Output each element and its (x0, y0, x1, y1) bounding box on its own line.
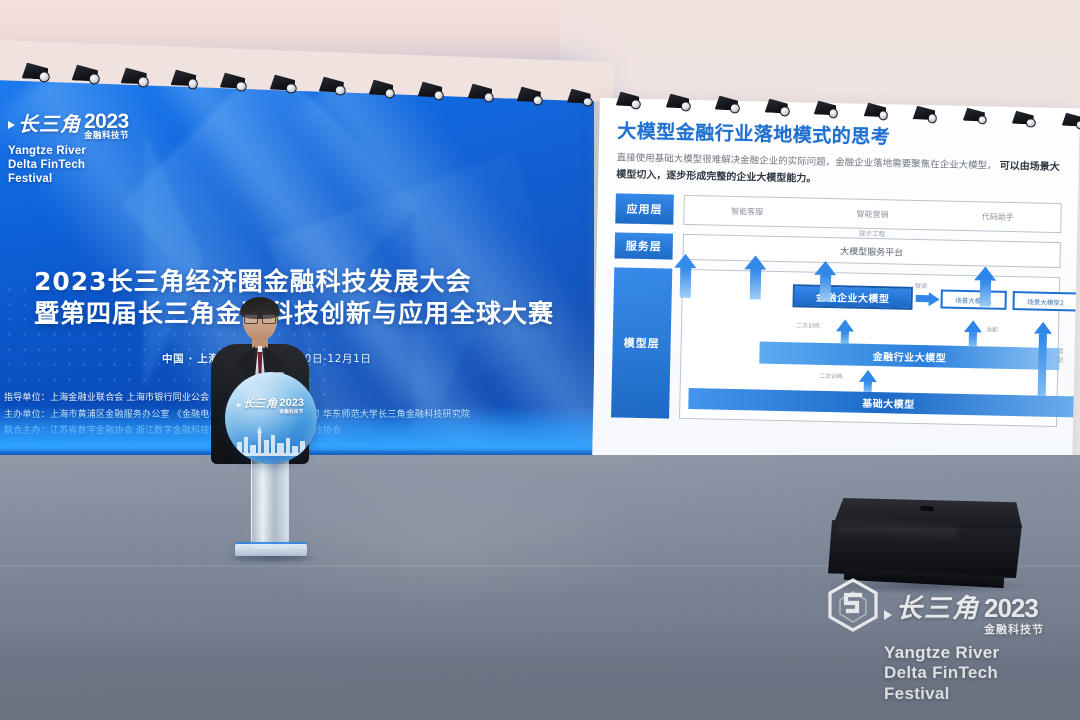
event-logo-year: 2023 (84, 112, 129, 131)
podium-logo-panel: 长三角 2023 金融科技节 (225, 372, 317, 464)
stage-spotlight (963, 108, 985, 122)
stage-spotlight (665, 93, 689, 108)
event-logo-en-line2: Delta FinTech (8, 158, 188, 172)
edge-label-retrain: 二次训练 (819, 371, 843, 381)
stage-spotlight (765, 98, 788, 113)
flow-arrow-base-to-scene2 (1034, 322, 1052, 334)
speaker-podium: 长三角 2023 金融科技节 (225, 372, 317, 572)
model-box-scene-2: 场景大模型2 (1012, 291, 1078, 311)
presentation-slide: 大模型金融行业落地模式的思考 直接使用基础大模型很难解决金融企业的实际问题，金融… (592, 98, 1080, 474)
model-box-base: 基础大模型 (688, 388, 1080, 418)
edge-label-adapt: 适配 (1057, 346, 1063, 364)
stage-spotlight (418, 82, 443, 98)
app-cell-2: 代码助手 (935, 210, 1061, 224)
stage-spotlight (864, 103, 887, 118)
arrow-icon (237, 403, 241, 407)
podium-base (235, 544, 307, 556)
stage-spotlight (1012, 110, 1034, 124)
stage-spotlight (368, 79, 393, 95)
event-logo-en-line1: Yangtze River (8, 144, 188, 158)
podium-logo-cn: 长三角 (243, 398, 278, 409)
service-platform-label: 大模型服务平台 (840, 244, 903, 258)
stage-spotlight (220, 72, 246, 89)
slide-title: 大模型金融行业落地模式的思考 (617, 116, 1065, 153)
flow-arrow-stem (864, 382, 872, 392)
flow-arrow-stem (841, 331, 849, 343)
flow-arrow-model-to-service (814, 261, 837, 301)
stage-spotlight (170, 70, 196, 87)
stage-spotlight (319, 77, 344, 93)
event-logo-cn: 长三角 (18, 114, 81, 134)
stage-spotlight (517, 86, 541, 102)
flow-arrow-industry-to-enterprise (836, 319, 854, 331)
service-layer-note: 提示工程 (859, 228, 885, 239)
podium-stem (251, 458, 289, 548)
stage-spotlight (616, 91, 640, 106)
city-skyline-icon (233, 426, 309, 456)
stage-spotlight (269, 74, 295, 90)
flow-arrow-industry-to-scene1 (964, 320, 982, 332)
edge-label-finetune: 微调 (915, 281, 927, 290)
glasses-icon (244, 314, 276, 322)
layer-tag-model: 模型层 (611, 267, 672, 418)
slide-subtitle-line1: 直接使用基础大模型很难解决金融企业的实际问题，金融企业落地需要聚焦在企业大模型， (617, 152, 997, 171)
model-layer-box: 金融企业大模型 金融行业大模型 基础大模型 场景大模型1 场景大模型2 微调 二… (679, 269, 1060, 427)
app-cell-0: 智能客服 (684, 204, 810, 218)
edge-label-adapt: 适配 (986, 324, 998, 333)
conference-stage-photo: 长三角 2023 金融科技节 Yangtze River Delta FinTe… (0, 0, 1080, 720)
flow-arrow-model-to-service (674, 254, 697, 298)
flow-arrow-model-to-service (974, 266, 997, 306)
event-logo-led: 长三角 2023 金融科技节 Yangtze River Delta FinTe… (8, 112, 188, 186)
event-logo-festival-cn: 金融科技节 (84, 131, 129, 140)
stage-spotlight (1062, 113, 1080, 127)
app-cell-1: 智能营销 (810, 207, 936, 221)
podium-logo-year: 2023 (280, 398, 304, 409)
flow-arrow-enterprise-to-scene (929, 292, 940, 306)
stage-spotlight (913, 105, 936, 120)
monitor-handle (920, 506, 934, 512)
stage-spotlight (22, 62, 49, 79)
stage-spotlight (715, 96, 738, 111)
stage-spotlight (467, 84, 492, 100)
diagram-row-application: 应用层 智能客服 智能营销 代码助手 (615, 193, 1062, 233)
model-box-industry: 金融行业大模型 (759, 342, 1059, 371)
model-box-enterprise: 金融企业大模型 (792, 284, 912, 310)
stage-spotlight (121, 67, 147, 84)
stage-monitor-speaker (822, 498, 1027, 590)
layer-tag-application: 应用层 (615, 193, 674, 224)
arrow-icon (8, 121, 15, 129)
service-layer-bar: 提示工程 大模型服务平台 (682, 234, 1060, 268)
slide-subtitle: 直接使用基础大模型很难解决金融企业的实际问题，金融企业落地需要聚焦在企业大模型，… (616, 150, 1065, 193)
event-logo-en-line3: Festival (8, 172, 188, 186)
event-headline-line1: 2023长三角经济圈金融科技发展大会 (34, 266, 554, 298)
edge-label-retrain: 二次训练 (796, 320, 820, 330)
flow-arrow-model-to-service (744, 255, 767, 299)
stage-spotlight (71, 65, 97, 82)
stage-spotlight (814, 101, 837, 116)
podium-logo-festival: 金融科技节 (280, 409, 304, 415)
flow-arrow-stem (969, 332, 977, 346)
stage-spotlight (566, 89, 590, 105)
flow-arrow-base-to-industry (859, 370, 877, 382)
layer-tag-service: 服务层 (615, 232, 674, 259)
architecture-diagram: 应用层 智能客服 智能营销 代码助手 服务层 提示工程 大模型服务平台 (611, 193, 1062, 427)
flow-arrow-stem (1038, 334, 1047, 396)
